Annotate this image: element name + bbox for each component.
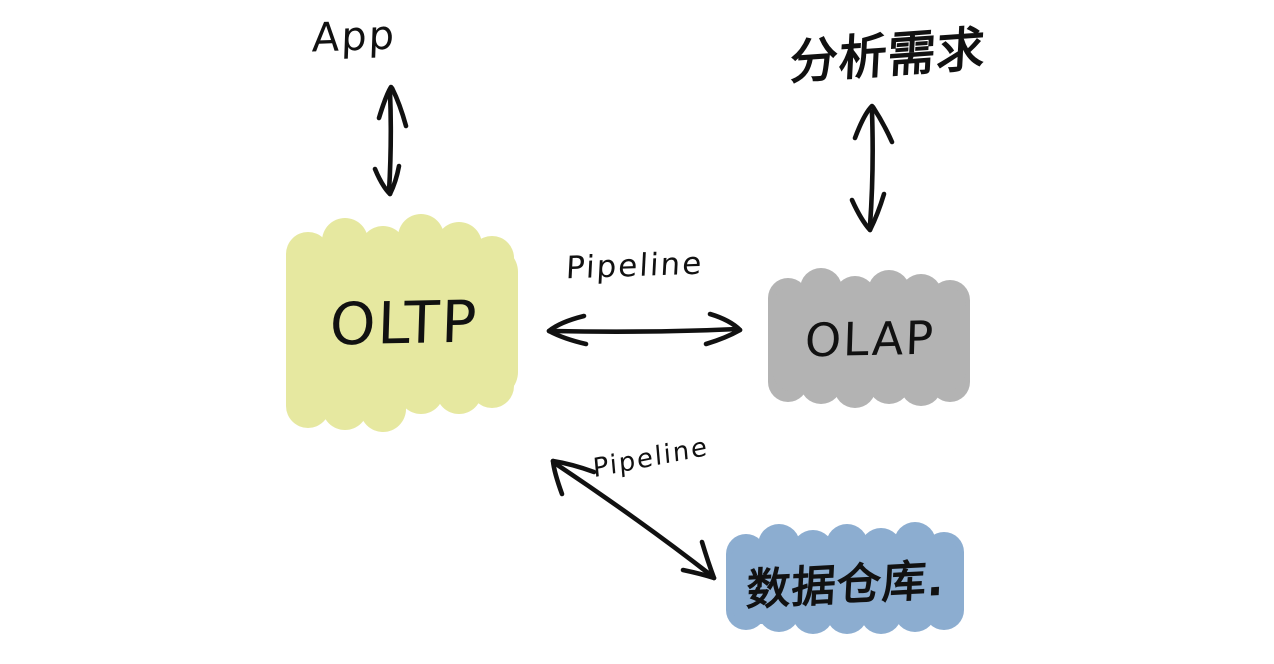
app-arrow[interactable] <box>375 87 406 194</box>
diagram-canvas: App 分析需求 Pipeline Pipeline OLTP OLAP 数据仓… <box>0 0 1274 664</box>
pipeline-diagonal-arrow[interactable] <box>553 461 714 578</box>
pipeline-horizontal-arrow[interactable] <box>549 314 740 344</box>
arrow-layer <box>0 0 1274 664</box>
analysis-arrow[interactable] <box>852 106 892 230</box>
